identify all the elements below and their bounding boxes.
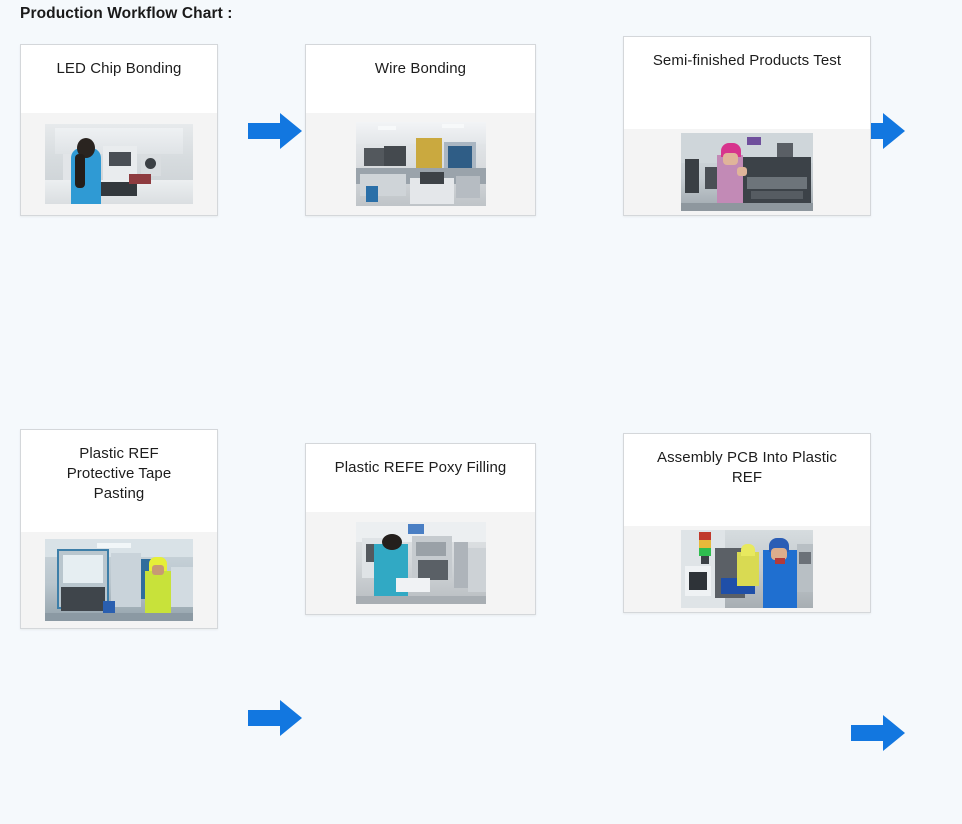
workflow-step-label: Wire Bonding bbox=[365, 59, 476, 89]
workflow-step-label: LED Chip Bonding bbox=[46, 59, 191, 89]
workflow-step-card[interactable]: LED Chip Bonding bbox=[20, 44, 218, 216]
wire-bonding-photo bbox=[356, 122, 486, 206]
workflow-page: Production Workflow Chart : LED Chip Bon… bbox=[0, 0, 962, 824]
workflow-row: LED Chip Bonding bbox=[0, 36, 962, 232]
led-chip-bonding-photo bbox=[45, 124, 193, 204]
photo-band bbox=[21, 113, 217, 215]
workflow-row: Epoxy Baking bbox=[0, 432, 962, 632]
photo-band bbox=[306, 113, 535, 215]
workflow-row: Plastic REF Protective Tape Pasting bbox=[0, 232, 962, 432]
workflow-step-label: Semi-finished Products Test bbox=[643, 51, 851, 81]
right-arrow-icon bbox=[246, 110, 304, 152]
workflow-grid: LED Chip Bonding bbox=[0, 36, 962, 824]
workflow-step-card[interactable]: Wire Bonding bbox=[305, 44, 536, 216]
workflow-step-cell: LED Chip Bonding bbox=[20, 44, 218, 216]
page-title: Production Workflow Chart : bbox=[20, 5, 233, 23]
photo-band bbox=[624, 129, 870, 215]
semi-finished-products-test-photo bbox=[681, 133, 813, 211]
workflow-step-cell: Wire Bonding bbox=[305, 44, 536, 216]
workflow-row: Film Pasting bbox=[0, 632, 962, 824]
workflow-step-cell: Semi-finished Products Test bbox=[623, 36, 871, 216]
workflow-step-card[interactable]: Semi-finished Products Test bbox=[623, 36, 871, 216]
